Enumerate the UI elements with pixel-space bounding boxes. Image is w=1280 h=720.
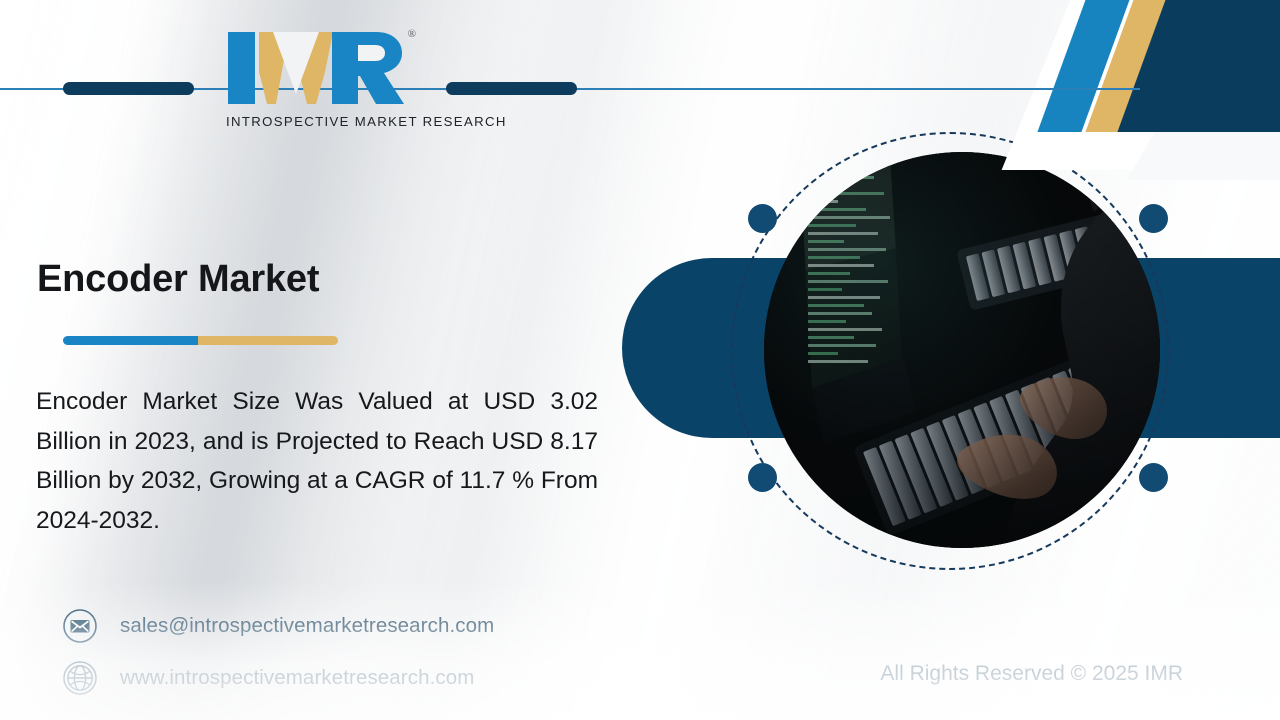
accent-segment-blue [63,336,198,345]
market-summary-text: Encoder Market Size Was Valued at USD 3.… [36,382,598,541]
marketing-banner: ® INTROSPECTIVE MARKET RESEARCH Encoder … [0,0,1280,720]
hero-photo [764,152,1160,548]
logo-tagline: INTROSPECTIVE MARKET RESEARCH [226,114,507,129]
background-bottom-fade [0,580,1280,720]
accent-segment-gold [198,336,338,345]
decor-dot-top-right [1139,204,1168,233]
decor-dot-bottom-left [748,463,777,492]
logo-letter-r [332,32,404,104]
registered-mark-icon: ® [408,28,416,40]
logo-letter-m [259,32,333,104]
logo-mark: ® [224,26,410,104]
logo-letter-i [228,32,255,104]
title-accent-bar [63,336,338,345]
page-title: Encoder Market [37,258,319,301]
header-bar-right [446,82,577,95]
photo-vignette [764,152,1160,548]
decor-dot-top-left [748,204,777,233]
imr-logo[interactable]: ® INTROSPECTIVE MARKET RESEARCH [224,26,424,141]
corner-stripe-group [950,0,1280,132]
header-bar-left [63,82,194,95]
decor-dot-bottom-right [1139,463,1168,492]
